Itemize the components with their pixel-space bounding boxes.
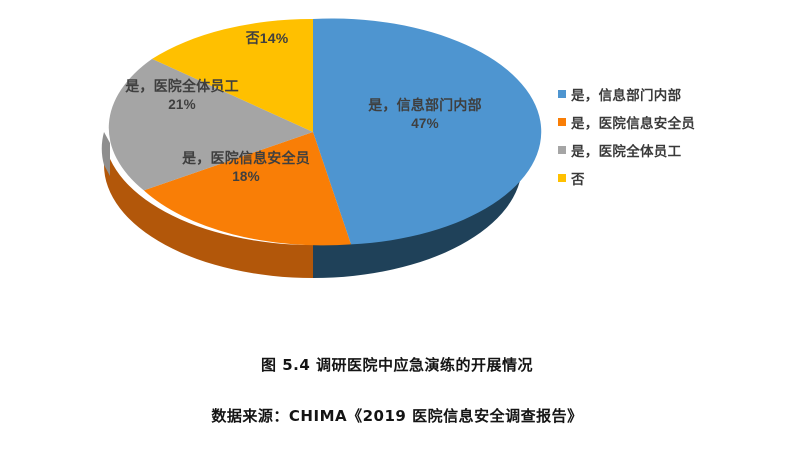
legend-label-2: 是，医院全体员工 xyxy=(571,140,681,160)
legend-label-0: 是，信息部门内部 xyxy=(571,84,681,104)
pie-data-label-1-pct: 18% xyxy=(166,168,326,185)
legend-swatch-icon-1 xyxy=(558,118,566,126)
legend-item-1[interactable]: 是，医院信息安全员 xyxy=(558,108,768,136)
pie-data-label-2-pct: 21% xyxy=(107,96,257,113)
figure-pie-chart: 是，信息部门内部 47% 是，医院信息安全员 18% 是，医院全体员工 21% … xyxy=(0,0,794,449)
pie-data-label-3: 否14% xyxy=(222,30,312,48)
legend-swatch-icon-0 xyxy=(558,90,566,98)
pie-data-label-3-pct: 14% xyxy=(260,30,289,46)
legend-item-2[interactable]: 是，医院全体员工 xyxy=(558,136,768,164)
chart-plot-area: 是，信息部门内部 47% 是，医院信息安全员 18% 是，医院全体员工 21% … xyxy=(0,0,794,300)
pie-data-label-0: 是，信息部门内部 47% xyxy=(355,97,495,132)
pie-data-label-0-pct: 47% xyxy=(355,115,495,132)
figure-caption-title: 图 5.4 调研医院中应急演练的开展情况 xyxy=(0,354,794,375)
legend-label-1: 是，医院信息安全员 xyxy=(571,112,695,132)
pie-data-label-2-name: 是，医院全体员工 xyxy=(125,78,239,94)
pie-data-label-1-name: 是，医院信息安全员 xyxy=(182,150,310,166)
pie-data-label-3-name: 否 xyxy=(246,30,260,46)
pie-side-gray xyxy=(102,126,104,165)
legend-swatch-icon-3 xyxy=(558,174,566,182)
legend-item-0[interactable]: 是，信息部门内部 xyxy=(558,80,768,108)
legend-label-3: 否 xyxy=(571,168,585,188)
legend-item-3[interactable]: 否 xyxy=(558,164,768,192)
pie-data-label-0-name: 是，信息部门内部 xyxy=(368,97,482,113)
legend-swatch-icon-2 xyxy=(558,146,566,154)
pie-data-label-1: 是，医院信息安全员 18% xyxy=(166,150,326,185)
chart-legend: 是，信息部门内部 是，医院信息安全员 是，医院全体员工 否 xyxy=(558,80,768,192)
figure-caption-block: 图 5.4 调研医院中应急演练的开展情况 数据来源：CHIMA《2019 医院信… xyxy=(0,340,794,426)
pie-data-label-2: 是，医院全体员工 21% xyxy=(107,78,257,113)
figure-caption-source: 数据来源：CHIMA《2019 医院信息安全调查报告》 xyxy=(0,405,794,426)
